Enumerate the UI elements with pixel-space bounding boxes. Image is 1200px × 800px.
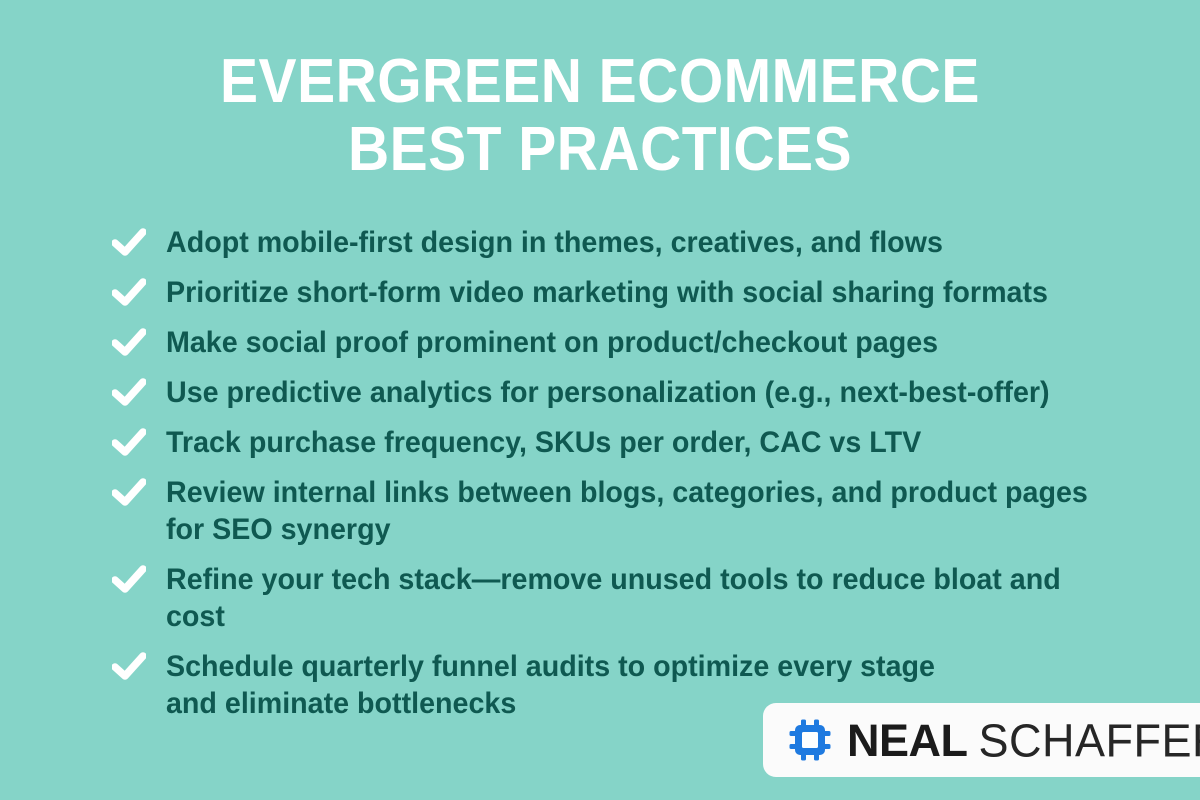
list-item: Track purchase frequency, SKUs per order… (112, 424, 1172, 461)
infographic-canvas: EVERGREEN ECOMMERCE BEST PRACTICES Adopt… (0, 0, 1200, 800)
check-icon (112, 378, 146, 408)
check-icon (112, 278, 146, 308)
title-line-1: EVERGREEN ECOMMERCE (48, 48, 1152, 116)
list-item-label: Adopt mobile-first design in themes, cre… (166, 224, 943, 261)
check-icon (112, 652, 146, 682)
title-line-2: BEST PRACTICES (48, 116, 1152, 184)
list-item: Refine your tech stack—remove unused too… (112, 561, 1172, 635)
check-icon (112, 565, 146, 595)
chip-icon (789, 719, 831, 761)
list-item-label: Prioritize short-form video marketing wi… (166, 274, 1048, 311)
list-item-label: Review internal links between blogs, cat… (166, 474, 1088, 548)
list-item: Prioritize short-form video marketing wi… (112, 274, 1172, 311)
check-icon (112, 428, 146, 458)
logo-name-light: SCHAFFER (979, 717, 1200, 763)
list-item-label: Make social proof prominent on product/c… (166, 324, 938, 361)
list-item-label: Track purchase frequency, SKUs per order… (166, 424, 921, 461)
brand-logo: NEAL SCHAFFER (763, 703, 1200, 777)
check-icon (112, 328, 146, 358)
page-title: EVERGREEN ECOMMERCE BEST PRACTICES (0, 48, 1200, 184)
logo-name-bold: NEAL (847, 718, 968, 763)
list-item: Make social proof prominent on product/c… (112, 324, 1172, 361)
list-item-label: Use predictive analytics for personaliza… (166, 374, 1050, 411)
list-item-label: Refine your tech stack—remove unused too… (166, 561, 1127, 635)
list-item: Review internal links between blogs, cat… (112, 474, 1172, 548)
best-practices-checklist: Adopt mobile-first design in themes, cre… (112, 224, 1172, 735)
list-item: Use predictive analytics for personaliza… (112, 374, 1172, 411)
logo-wordmark: NEAL SCHAFFER (847, 718, 1200, 763)
check-icon (112, 478, 146, 508)
list-item: Adopt mobile-first design in themes, cre… (112, 224, 1172, 261)
check-icon (112, 228, 146, 258)
